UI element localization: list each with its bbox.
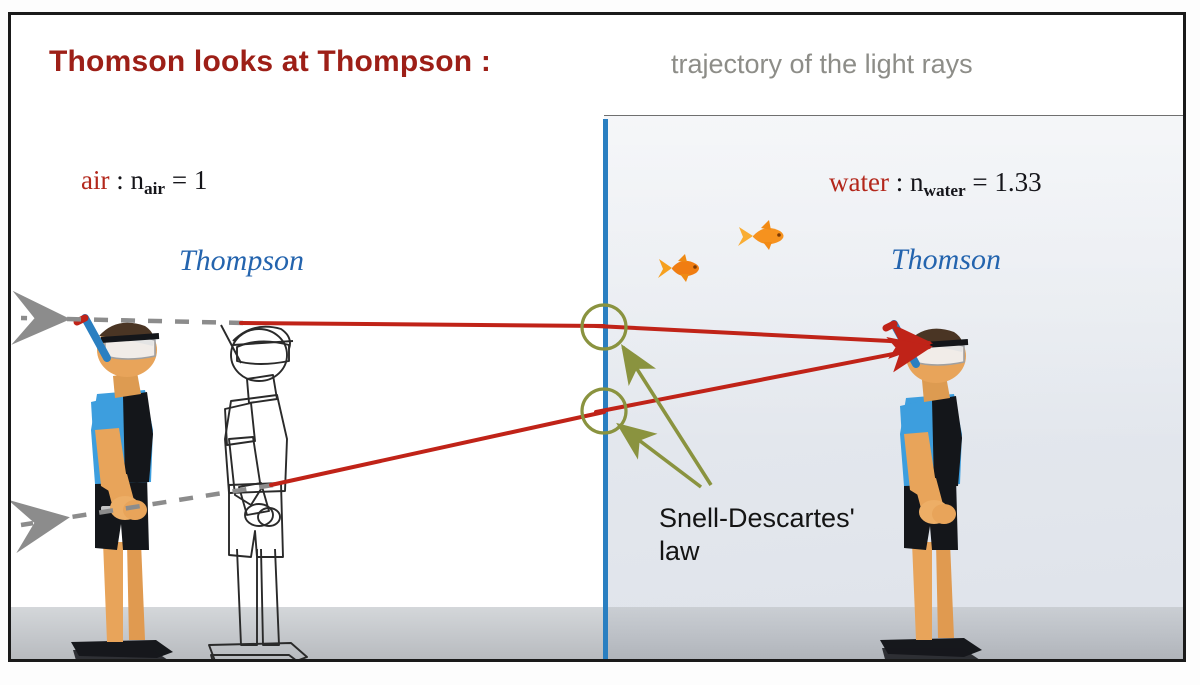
snell-descartes-label: Snell-Descartes' law xyxy=(659,502,855,568)
incident-ray-upper xyxy=(241,323,604,326)
virtual-ray-lower xyxy=(21,485,273,525)
refracted-ray-upper xyxy=(596,326,929,343)
diagram-canvas: Thomson looks at Thompson : trajectory o… xyxy=(0,0,1200,685)
diagram-frame: Thomson looks at Thompson : trajectory o… xyxy=(8,12,1186,662)
snell-arrow-lower xyxy=(619,425,701,487)
virtual-ray-upper xyxy=(21,318,243,323)
light-ray-overlay xyxy=(11,15,1186,662)
refracted-ray-lower xyxy=(596,347,929,412)
incident-ray-lower xyxy=(271,412,604,485)
snell-arrow-upper xyxy=(623,347,711,485)
